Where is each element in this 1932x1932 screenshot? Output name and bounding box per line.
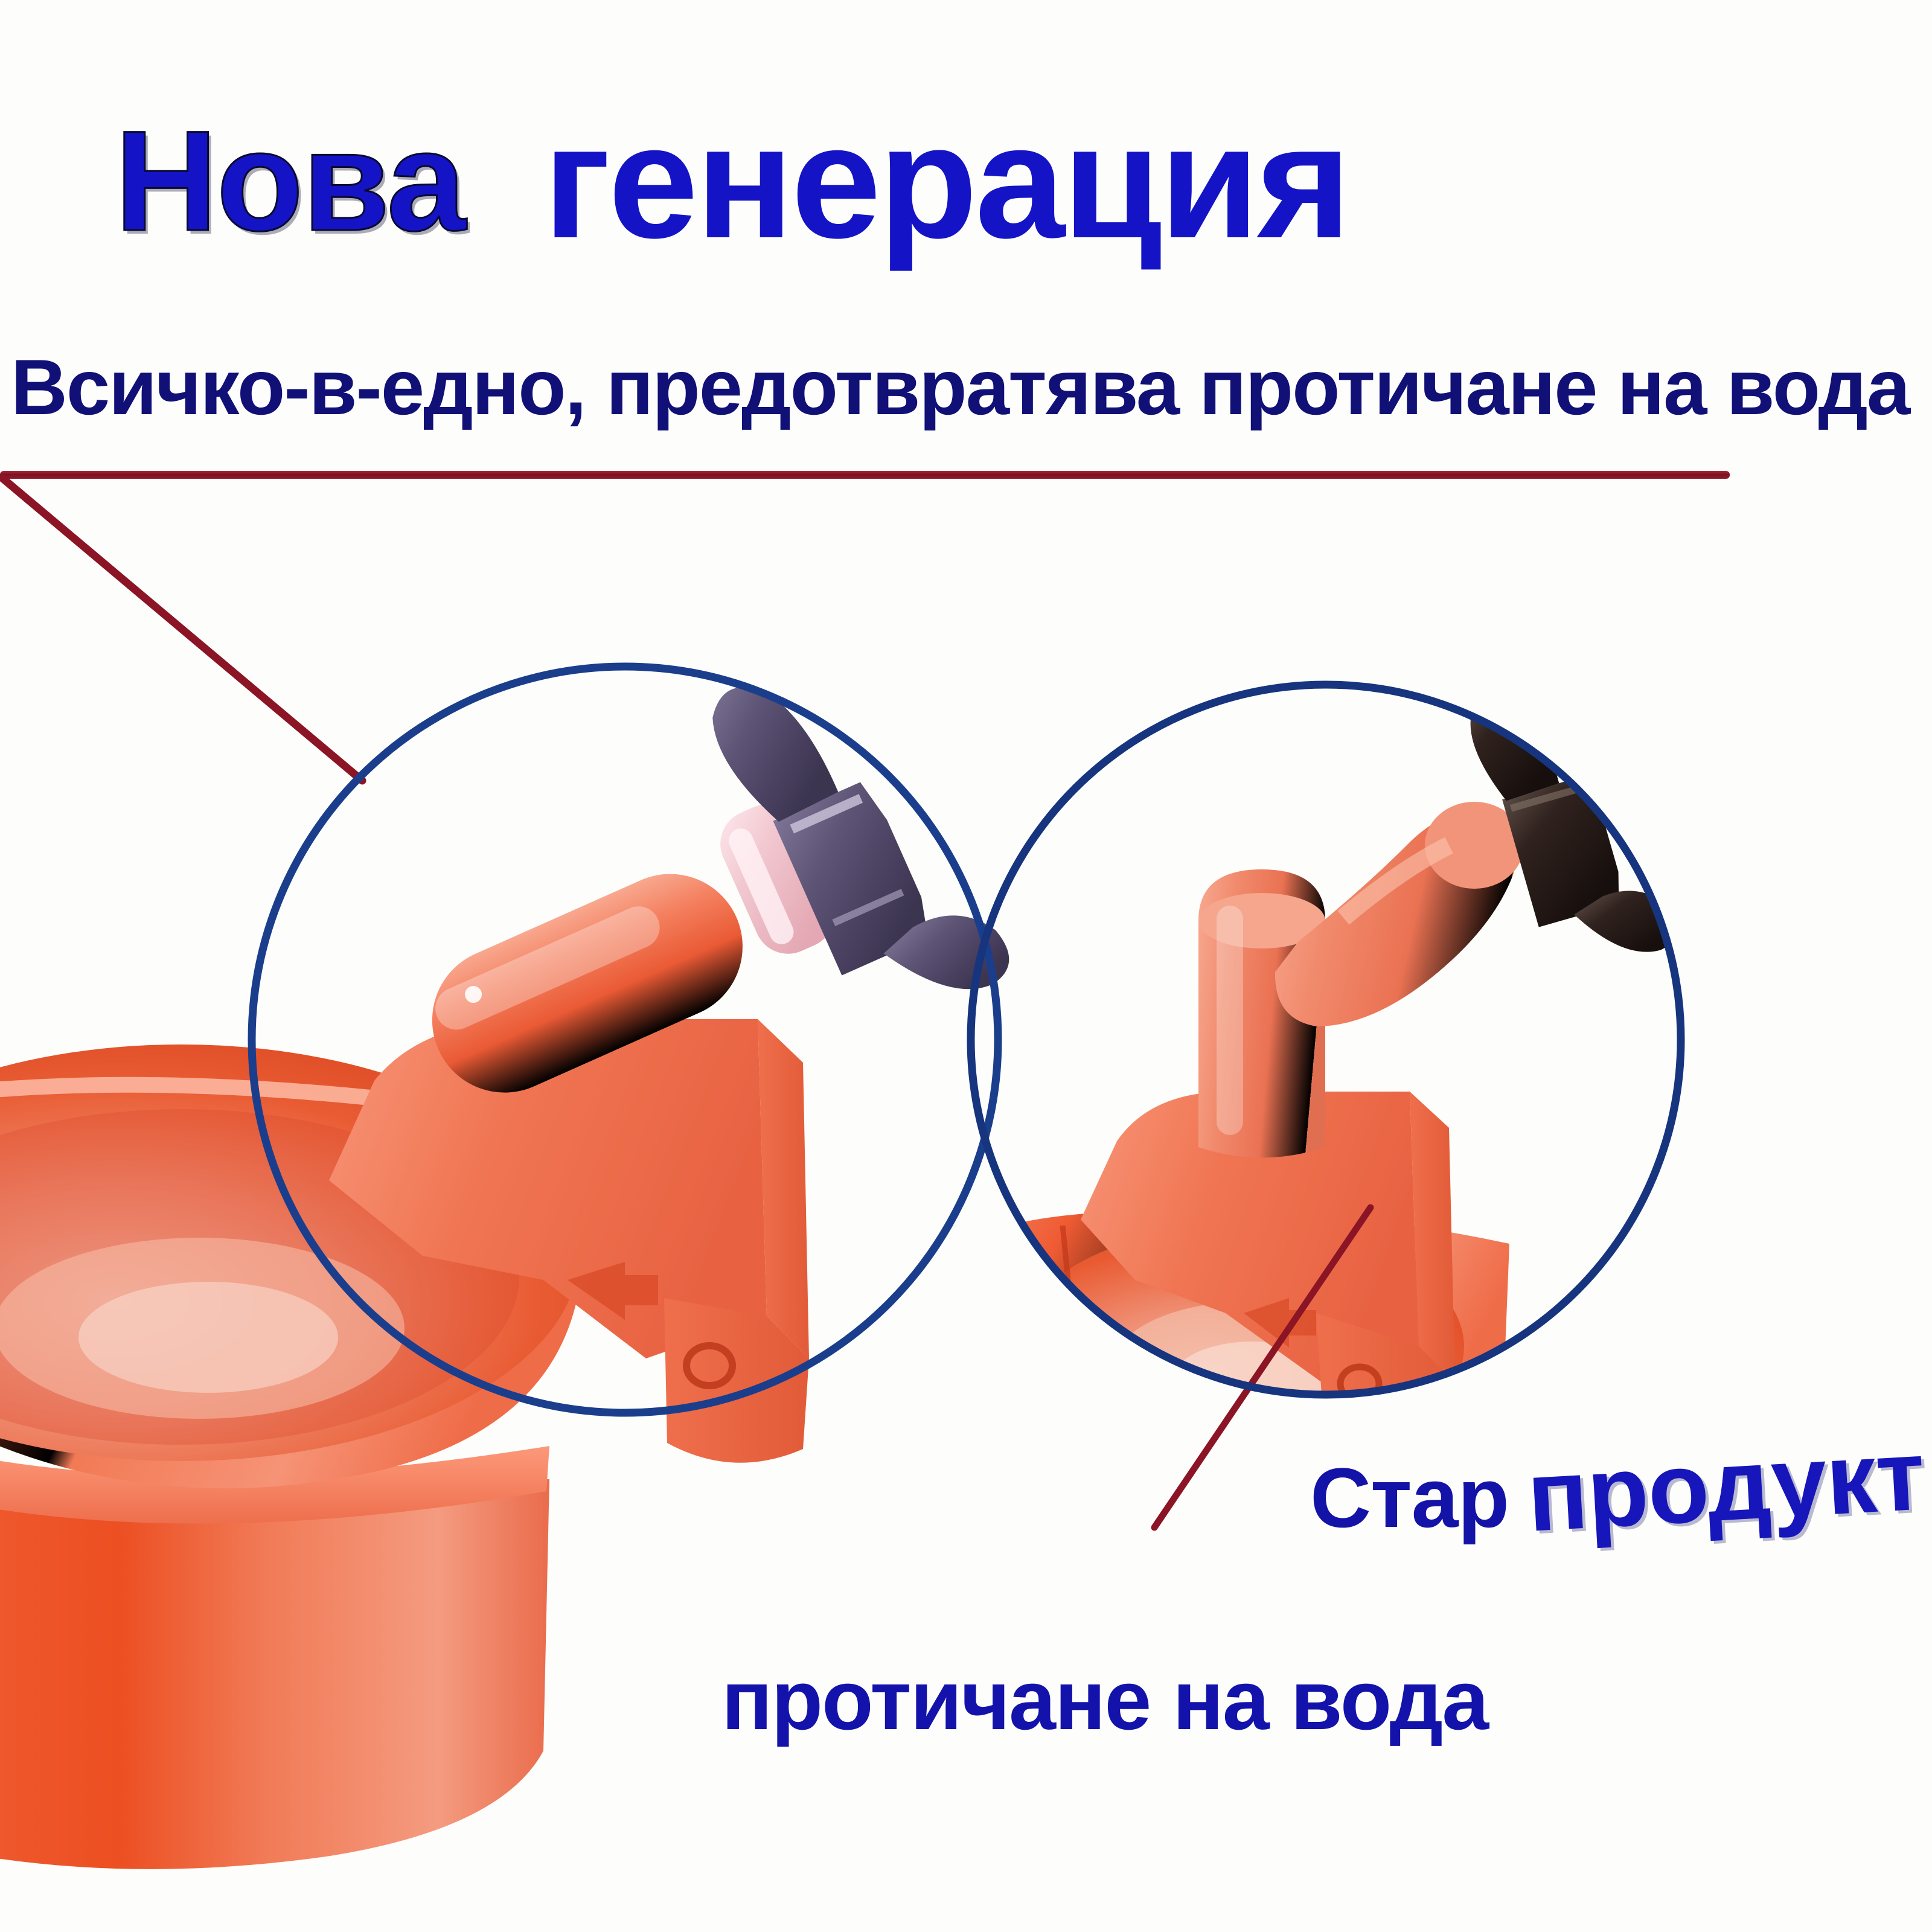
infographic-page: Нова генерация Всичко-в-едно, предотврат… [0, 0, 1932, 1932]
leader-line-new-product [2, 478, 362, 781]
caption-old-word1: Стар [1310, 1449, 1509, 1547]
caption-water-leak: протичане на вода [721, 1651, 1488, 1749]
product-illustration-stage [0, 0, 1932, 1932]
caption-old-word2: продукт [1524, 1418, 1928, 1554]
